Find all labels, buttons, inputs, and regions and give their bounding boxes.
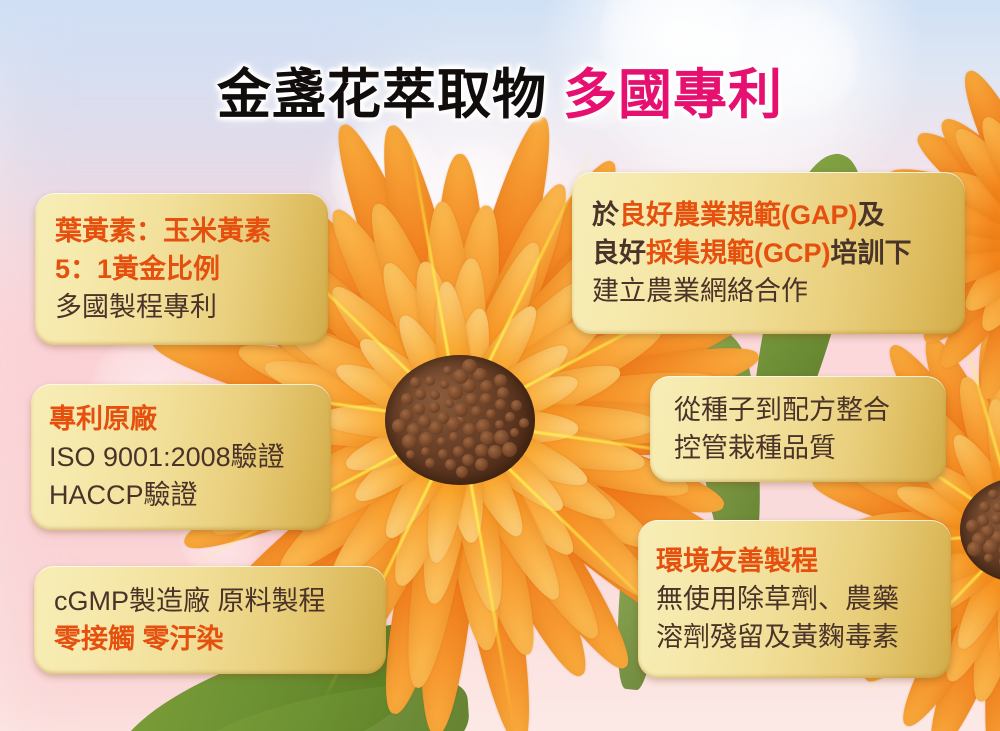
callout-line: 葉黃素：玉米黃素 [55,212,328,250]
callout-segment: 培訓下 [831,238,912,268]
callout-box-patent-manufacturer[interactable]: 專利原廠 ISO 9001:2008驗證 HACCP驗證 [31,384,331,530]
callout-line: 無使用除草劑、農藥 [656,580,951,618]
title-main: 金盞花萃取物 [217,65,547,125]
poster-canvas: 金盞花萃取物多國專利 葉黃素：玉米黃素 5：1黃金比例 多國製程專利 專利原廠 … [0,0,1000,731]
callout-box-eco-friendly-process[interactable]: 環境友善製程 無使用除草劑、農藥 溶劑殘留及黃麴毒素 [638,520,951,678]
callout-segment: 於 [592,200,619,230]
callout-line: 從種子到配方整合 [674,391,946,429]
page-title: 金盞花萃取物多國專利 [0,50,1000,129]
callout-box-seed-to-formula[interactable]: 從種子到配方整合 控管栽種品質 [650,376,946,482]
title-accent: 多國專利 [563,65,783,125]
callout-box-gap-gcp-training[interactable]: 於良好農業規範(GAP)及 良好採集規範(GCP)培訓下 建立農業網絡合作 [572,172,965,334]
callout-segment: 及 [858,200,885,230]
callout-box-cgmp-factory[interactable]: cGMP製造廠 原料製程 零接觸 零汙染 [34,566,386,674]
callout-line: 5：1黃金比例 [55,250,328,288]
callout-line: 控管栽種品質 [674,429,946,467]
callout-line: cGMP製造廠 原料製程 [54,582,386,620]
callout-segment: 良好 [592,238,646,268]
callout-line: 良好採集規範(GCP)培訓下 [592,234,965,272]
callout-line: 環境友善製程 [656,542,951,580]
callout-line: 專利原廠 [49,400,331,438]
callout-box-lutein-ratio[interactable]: 葉黃素：玉米黃素 5：1黃金比例 多國製程專利 [35,193,328,345]
callout-line: ISO 9001:2008驗證 [49,438,331,476]
callout-line: 零接觸 零汙染 [54,620,386,658]
callout-line: 建立農業網絡合作 [592,272,965,310]
callout-segment: 採集規範(GCP) [646,238,831,268]
callout-line: 多國製程專利 [55,288,328,326]
callout-line: HACCP驗證 [49,476,331,514]
callout-line: 溶劑殘留及黃麴毒素 [656,618,951,656]
callout-segment: 良好農業規範(GAP) [619,200,858,230]
callout-line: 於良好農業規範(GAP)及 [592,196,965,234]
